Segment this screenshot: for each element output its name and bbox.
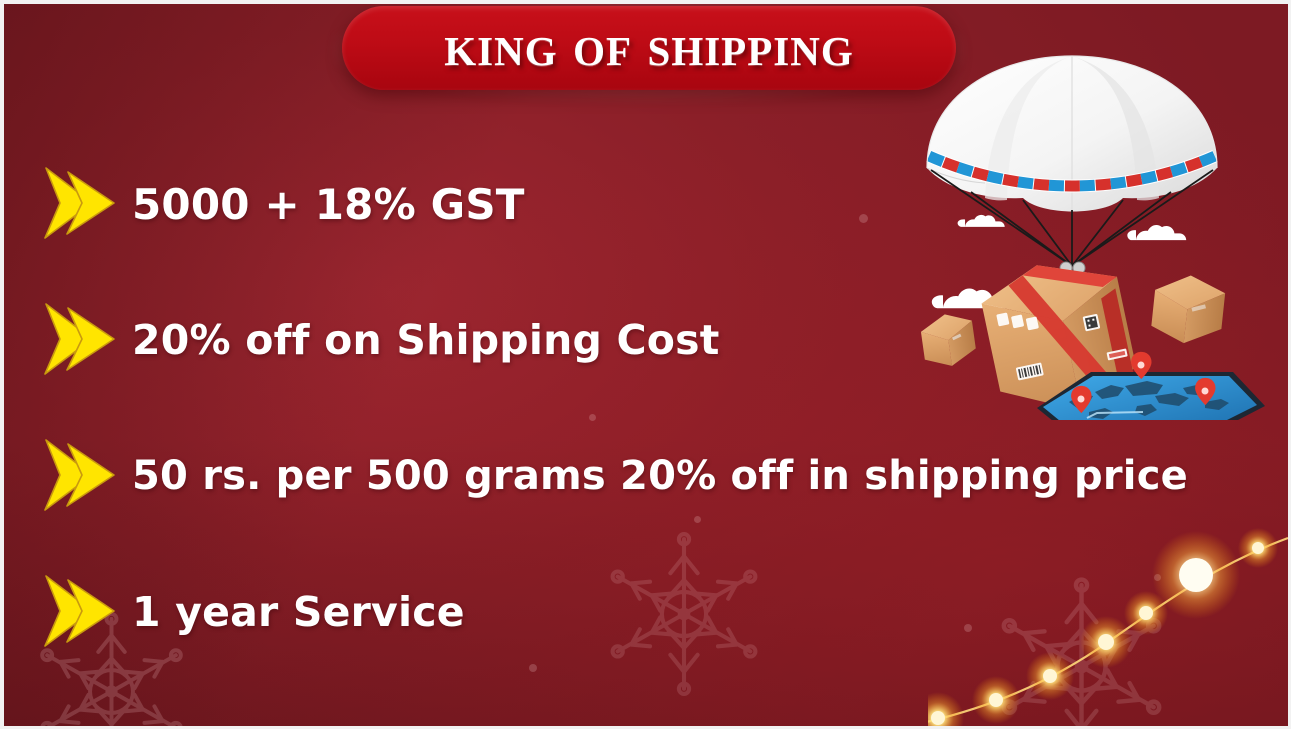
list-item-label: 5000 + 18% GST — [132, 180, 525, 229]
double-chevron-right-icon — [42, 438, 120, 514]
cardboard-box-small-right-icon — [1150, 272, 1227, 347]
title-badge-plate: King of Shipping — [342, 6, 956, 90]
list-item[interactable]: 50 rs. per 500 grams 20% off in shipping… — [42, 408, 1242, 544]
list-item-label: 20% off on Shipping Cost — [132, 316, 720, 364]
parachute-canopy-icon — [927, 56, 1217, 212]
promo-banner: King of Shipping 5000 + 18% GST 20% off … — [0, 0, 1291, 729]
parachute-delivery-illustration — [909, 50, 1269, 420]
title-badge: King of Shipping — [342, 6, 956, 90]
double-chevron-right-icon — [42, 166, 120, 242]
double-chevron-right-icon — [42, 574, 120, 650]
cardboard-box-small-left-icon — [919, 311, 978, 370]
list-item-label: 50 rs. per 500 grams 20% off in shipping… — [132, 453, 1188, 499]
page-title: King of Shipping — [444, 17, 853, 79]
double-chevron-right-icon — [42, 302, 120, 378]
list-item-label: 1 year Service — [132, 588, 465, 636]
list-item[interactable]: 1 year Service — [42, 544, 1242, 680]
